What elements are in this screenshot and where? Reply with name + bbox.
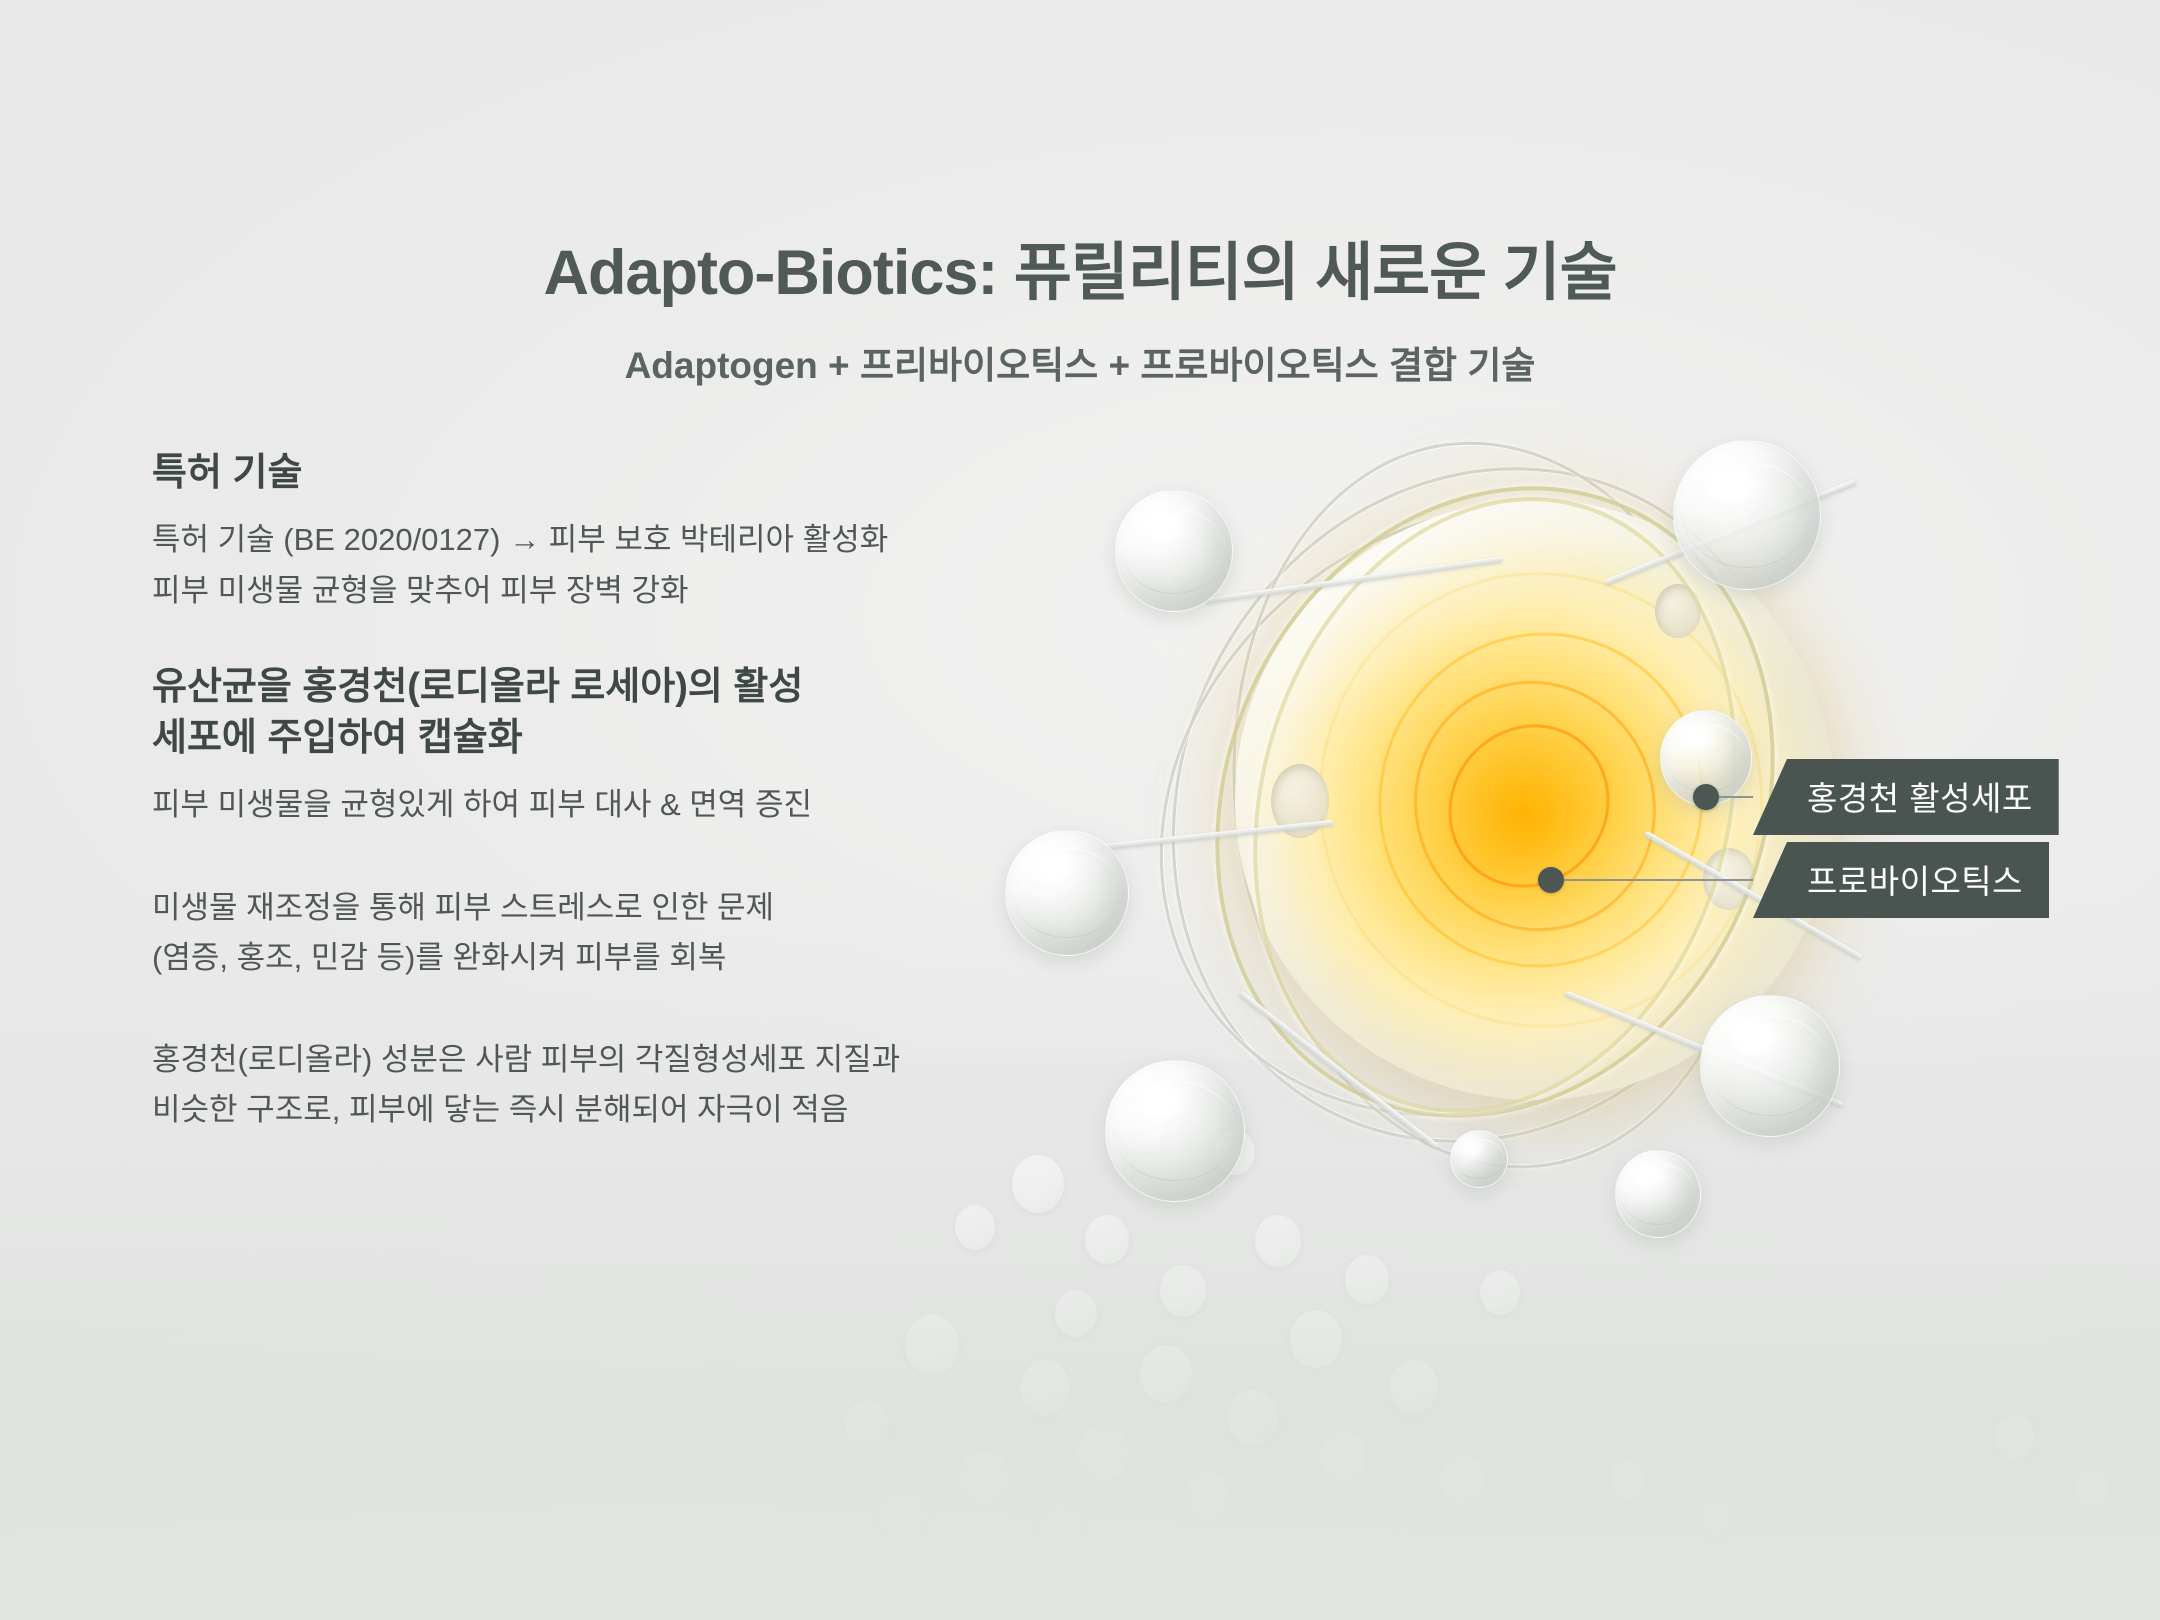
callout-label-1: 홍경천 활성세포 [1753, 759, 2059, 835]
section3-line-1: 미생물 재조정을 통해 피부 스트레스로 인한 문제 [152, 883, 1052, 933]
section2-heading-line-2: 세포에 주입하여 캡슐화 [152, 713, 1052, 764]
satellite-node-bottom-mid [1450, 1130, 1508, 1188]
body-copy: 특허 기술 특허 기술 (BE 2020/0127) → 피부 보호 박테리아 … [152, 448, 1052, 1135]
satellite-node-bottom-far [1615, 1150, 1701, 1238]
section2-line-1: 피부 미생물을 균형있게 하여 피부 대사 & 면역 증진 [152, 780, 1052, 830]
callout-label-2: 프로바이오틱스 [1753, 842, 2049, 918]
callout-dot-2 [1538, 867, 1564, 893]
satellite-node-top-right [1673, 440, 1821, 590]
section3-line-2: (염증, 홍조, 민감 등)를 완화시켜 피부를 회복 [152, 933, 1052, 983]
section4-line-1: 홍경천(로디올라) 성분은 사람 피부의 각질형성세포 지질과 [152, 1035, 1052, 1085]
page-subtitle: Adaptogen + 프리바이오틱스 + 프로바이오틱스 결합 기술 [0, 335, 2160, 389]
satellite-node-top-left [1115, 490, 1233, 612]
satellite-node-bottom-left [1105, 1060, 1245, 1202]
section1-line-2: 피부 미생물 균형을 맞추어 피부 장벽 강화 [152, 566, 1052, 616]
section1-heading: 특허 기술 [152, 448, 1052, 499]
satellite-node-bottom-right [1700, 995, 1840, 1137]
section2-heading-line-1: 유산균을 홍경천(로디올라 로세아)의 활성 [152, 662, 1052, 713]
section4-line-2: 비슷한 구조로, 피부에 닿는 즉시 분해되어 자극이 적음 [152, 1085, 1052, 1135]
slide-stage: 홍경천 활성세포 프로바이오틱스 Adapto-Biotics: 퓨릴리티의 새… [0, 0, 2160, 1620]
section1-line-1: 특허 기술 (BE 2020/0127) → 피부 보호 박테리아 활성화 [152, 515, 1052, 565]
page-title: Adapto-Biotics: 퓨릴리티의 새로운 기술 [0, 222, 2160, 313]
callout-rhodiola-active-cell[interactable]: 홍경천 활성세포 [1693, 759, 2059, 835]
header-block: Adapto-Biotics: 퓨릴리티의 새로운 기술 Adaptogen +… [0, 0, 2160, 389]
callout-line-1 [1719, 796, 1753, 798]
callout-dot-1 [1693, 784, 1719, 810]
callout-probiotics[interactable]: 프로바이오틱스 [1538, 842, 2049, 918]
callout-line-2 [1564, 879, 1753, 881]
